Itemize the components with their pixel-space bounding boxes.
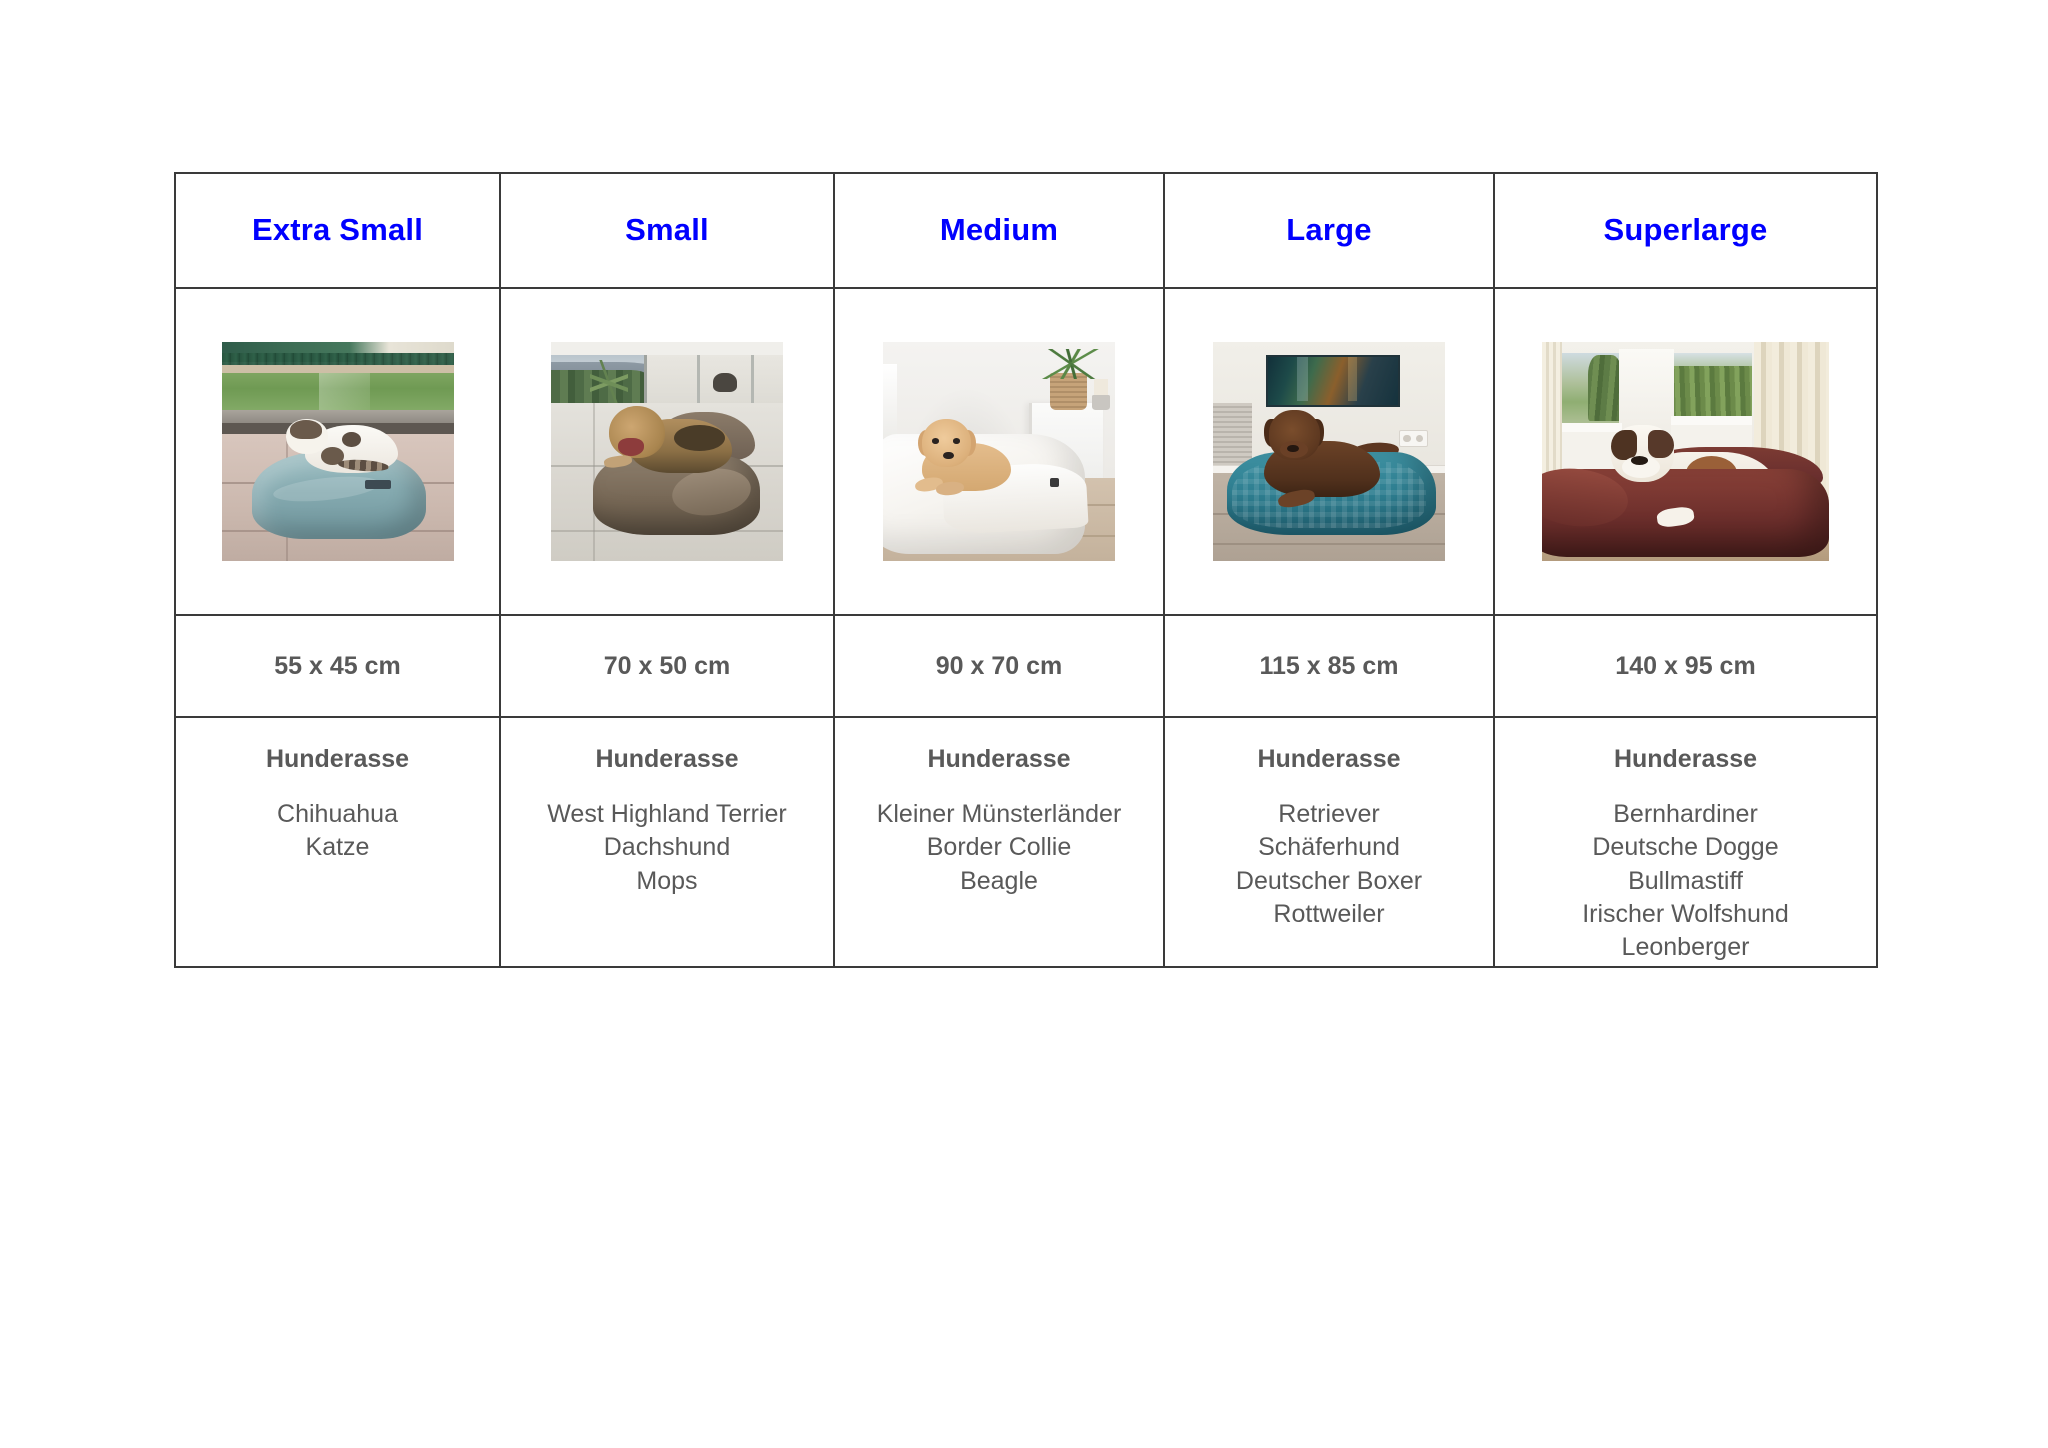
cell-breeds-superlarge: Hunderasse Bernhardiner Deutsche Dogge B… — [1494, 717, 1877, 967]
size-name-label: Superlarge — [1495, 213, 1876, 247]
breed-item: West Highland Terrier — [501, 798, 833, 831]
breed-item: Deutscher Boxer — [1165, 865, 1493, 898]
cell-breeds-extra-small: Hunderasse Chihuahua Katze — [175, 717, 500, 967]
product-photo-extra-small — [222, 342, 454, 561]
breed-title: Hunderasse — [1165, 744, 1493, 774]
photo-wrapper — [1495, 289, 1876, 614]
breed-cell: Hunderasse Chihuahua Katze — [176, 718, 499, 865]
cell-size-name-superlarge: Superlarge — [1494, 173, 1877, 288]
breed-item: Dachshund — [501, 831, 833, 864]
breed-item: Leonberger — [1495, 931, 1876, 964]
cell-photo-superlarge — [1494, 288, 1877, 615]
breed-list: Retriever Schäferhund Deutscher Boxer Ro… — [1165, 798, 1493, 931]
photo-wrapper — [501, 289, 833, 614]
dimensions-label: 55 x 45 cm — [176, 652, 499, 681]
product-photo-small — [551, 342, 783, 561]
cell-photo-small — [500, 288, 834, 615]
cell-photo-large — [1164, 288, 1494, 615]
cell-photo-medium — [834, 288, 1164, 615]
breed-cell: Hunderasse West Highland Terrier Dachshu… — [501, 718, 833, 898]
breed-item: Bullmastiff — [1495, 865, 1876, 898]
breed-title: Hunderasse — [501, 744, 833, 774]
table-row-dimensions: 55 x 45 cm 70 x 50 cm 90 x 70 cm 115 x 8… — [175, 615, 1877, 717]
document-page: Extra Small Small Medium Large Superlarg… — [0, 0, 2048, 1448]
dog-bed-size-table: Extra Small Small Medium Large Superlarg… — [174, 172, 1878, 968]
cell-size-name-large: Large — [1164, 173, 1494, 288]
cell-size-name-medium: Medium — [834, 173, 1164, 288]
dimensions-label: 70 x 50 cm — [501, 652, 833, 681]
size-name-label: Small — [501, 213, 833, 247]
breed-list: Chihuahua Katze — [176, 798, 499, 865]
cell-dimensions-small: 70 x 50 cm — [500, 615, 834, 717]
photo-wrapper — [835, 289, 1163, 614]
breed-title: Hunderasse — [835, 744, 1163, 774]
dimensions-label: 140 x 95 cm — [1495, 652, 1876, 681]
table-row-photos — [175, 288, 1877, 615]
breed-item: Irischer Wolfshund — [1495, 898, 1876, 931]
dimensions-label: 90 x 70 cm — [835, 652, 1163, 681]
breed-list: West Highland Terrier Dachshund Mops — [501, 798, 833, 898]
photo-wrapper — [1165, 289, 1493, 614]
cell-breeds-small: Hunderasse West Highland Terrier Dachshu… — [500, 717, 834, 967]
breed-title: Hunderasse — [1495, 744, 1876, 774]
breed-title: Hunderasse — [176, 744, 499, 774]
photo-wrapper — [176, 289, 499, 614]
cell-photo-extra-small — [175, 288, 500, 615]
breed-cell: Hunderasse Retriever Schäferhund Deutsch… — [1165, 718, 1493, 931]
breed-item: Retriever — [1165, 798, 1493, 831]
size-name-label: Large — [1165, 213, 1493, 247]
breed-list: Kleiner Münsterländer Border Collie Beag… — [835, 798, 1163, 898]
breed-item: Border Collie — [835, 831, 1163, 864]
cell-size-name-small: Small — [500, 173, 834, 288]
product-photo-medium — [883, 342, 1115, 561]
table-row-breeds: Hunderasse Chihuahua Katze Hunderasse We… — [175, 717, 1877, 967]
cell-dimensions-large: 115 x 85 cm — [1164, 615, 1494, 717]
cell-breeds-large: Hunderasse Retriever Schäferhund Deutsch… — [1164, 717, 1494, 967]
size-name-label: Medium — [835, 213, 1163, 247]
breed-item: Schäferhund — [1165, 831, 1493, 864]
breed-item: Kleiner Münsterländer — [835, 798, 1163, 831]
cell-dimensions-superlarge: 140 x 95 cm — [1494, 615, 1877, 717]
breed-list: Bernhardiner Deutsche Dogge Bullmastiff … — [1495, 798, 1876, 964]
breed-item: Beagle — [835, 865, 1163, 898]
product-photo-large — [1213, 342, 1445, 561]
dimensions-label: 115 x 85 cm — [1165, 652, 1493, 681]
breed-item: Rottweiler — [1165, 898, 1493, 931]
breed-item: Katze — [176, 831, 499, 864]
breed-cell: Hunderasse Bernhardiner Deutsche Dogge B… — [1495, 718, 1876, 964]
cell-dimensions-extra-small: 55 x 45 cm — [175, 615, 500, 717]
breed-item: Mops — [501, 865, 833, 898]
breed-item: Chihuahua — [176, 798, 499, 831]
cell-breeds-medium: Hunderasse Kleiner Münsterländer Border … — [834, 717, 1164, 967]
breed-item: Deutsche Dogge — [1495, 831, 1876, 864]
cell-dimensions-medium: 90 x 70 cm — [834, 615, 1164, 717]
product-photo-superlarge — [1542, 342, 1829, 561]
table-row-size-names: Extra Small Small Medium Large Superlarg… — [175, 173, 1877, 288]
cell-size-name-extra-small: Extra Small — [175, 173, 500, 288]
breed-item: Bernhardiner — [1495, 798, 1876, 831]
breed-cell: Hunderasse Kleiner Münsterländer Border … — [835, 718, 1163, 898]
size-name-label: Extra Small — [176, 213, 499, 247]
